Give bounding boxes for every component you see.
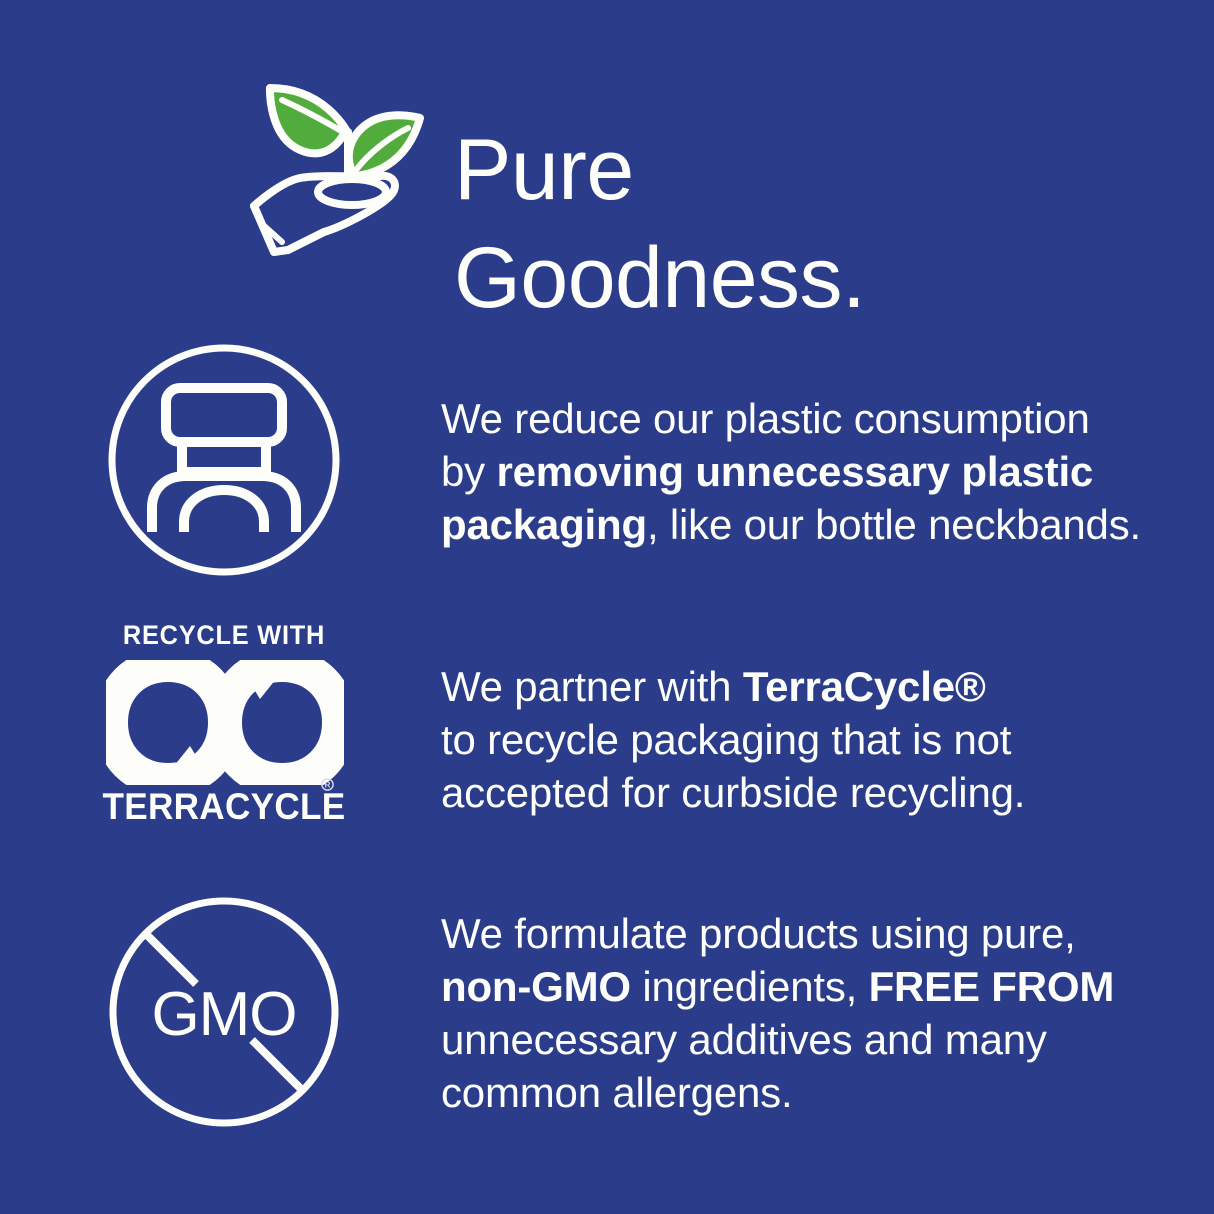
- benefit-row-gmo: GMO We formulate products using pure,non…: [0, 890, 1214, 1130]
- hand-holding-plant-icon: [248, 66, 426, 256]
- text-line: We partner with TerraCycle®: [441, 660, 1161, 713]
- text-emphasis: TerraCycle®: [743, 663, 986, 710]
- benefit-text-gmo: We formulate products using pure,non-GMO…: [441, 907, 1161, 1119]
- no-gmo-label: GMO: [151, 980, 296, 1049]
- text-line: unnecessary additives and many: [441, 1013, 1161, 1066]
- page-title: Pure Goodness.: [454, 116, 1014, 332]
- text-line: by removing unnecessary plastic: [441, 445, 1161, 498]
- text-emphasis: non-GMO: [441, 963, 631, 1010]
- text-line: to recycle packaging that is not: [441, 713, 1161, 766]
- text-emphasis: removing unnecessary plastic: [496, 448, 1093, 495]
- text-emphasis: FREE FROM: [869, 963, 1115, 1010]
- terracycle-wordmark: TERRACYCLE: [102, 786, 345, 828]
- no-gmo-icon: GMO: [96, 890, 352, 1130]
- text-emphasis: packaging: [441, 501, 647, 548]
- text-segment: , like our bottle neckbands.: [647, 501, 1141, 548]
- infinity-recycle-arrows-icon: [106, 660, 344, 785]
- text-line: common allergens.: [441, 1066, 1161, 1119]
- text-segment: to recycle packaging that is not: [441, 716, 1011, 763]
- page-title-line-2: Goodness.: [454, 224, 1014, 332]
- text-segment: unnecessary additives and many: [441, 1016, 1047, 1063]
- text-segment: ingredients,: [631, 963, 869, 1010]
- text-segment: We formulate products using pure,: [441, 910, 1076, 957]
- benefit-row-plastic: We reduce our plastic consumptionby remo…: [0, 340, 1214, 590]
- page-title-line-1: Pure: [454, 116, 1014, 224]
- terracycle-logo: RECYCLE WITH: [96, 620, 352, 835]
- text-line: accepted for curbside recycling.: [441, 766, 1161, 819]
- text-segment: common allergens.: [441, 1069, 792, 1116]
- header: Pure Goodness.: [248, 58, 1008, 268]
- text-segment: by: [441, 448, 496, 495]
- benefit-text-plastic: We reduce our plastic consumptionby remo…: [441, 392, 1161, 551]
- terracycle-top-label: RECYCLE WITH: [104, 620, 345, 650]
- text-line: packaging, like our bottle neckbands.: [441, 498, 1161, 551]
- text-segment: accepted for curbside recycling.: [441, 769, 1025, 816]
- benefit-text-terracycle: We partner with TerraCycle®to recycle pa…: [441, 660, 1161, 819]
- text-line: non-GMO ingredients, FREE FROM: [441, 960, 1161, 1013]
- text-line: We formulate products using pure,: [441, 907, 1161, 960]
- text-segment: We partner with: [441, 663, 743, 710]
- text-segment: We reduce our plastic consumption: [441, 395, 1090, 442]
- pure-goodness-infographic: Pure Goodness. We reduce our plastic con…: [0, 0, 1214, 1214]
- text-line: We reduce our plastic consumption: [441, 392, 1161, 445]
- bottle-neckband-icon: [96, 340, 352, 580]
- benefit-row-terracycle: RECYCLE WITH: [0, 620, 1214, 860]
